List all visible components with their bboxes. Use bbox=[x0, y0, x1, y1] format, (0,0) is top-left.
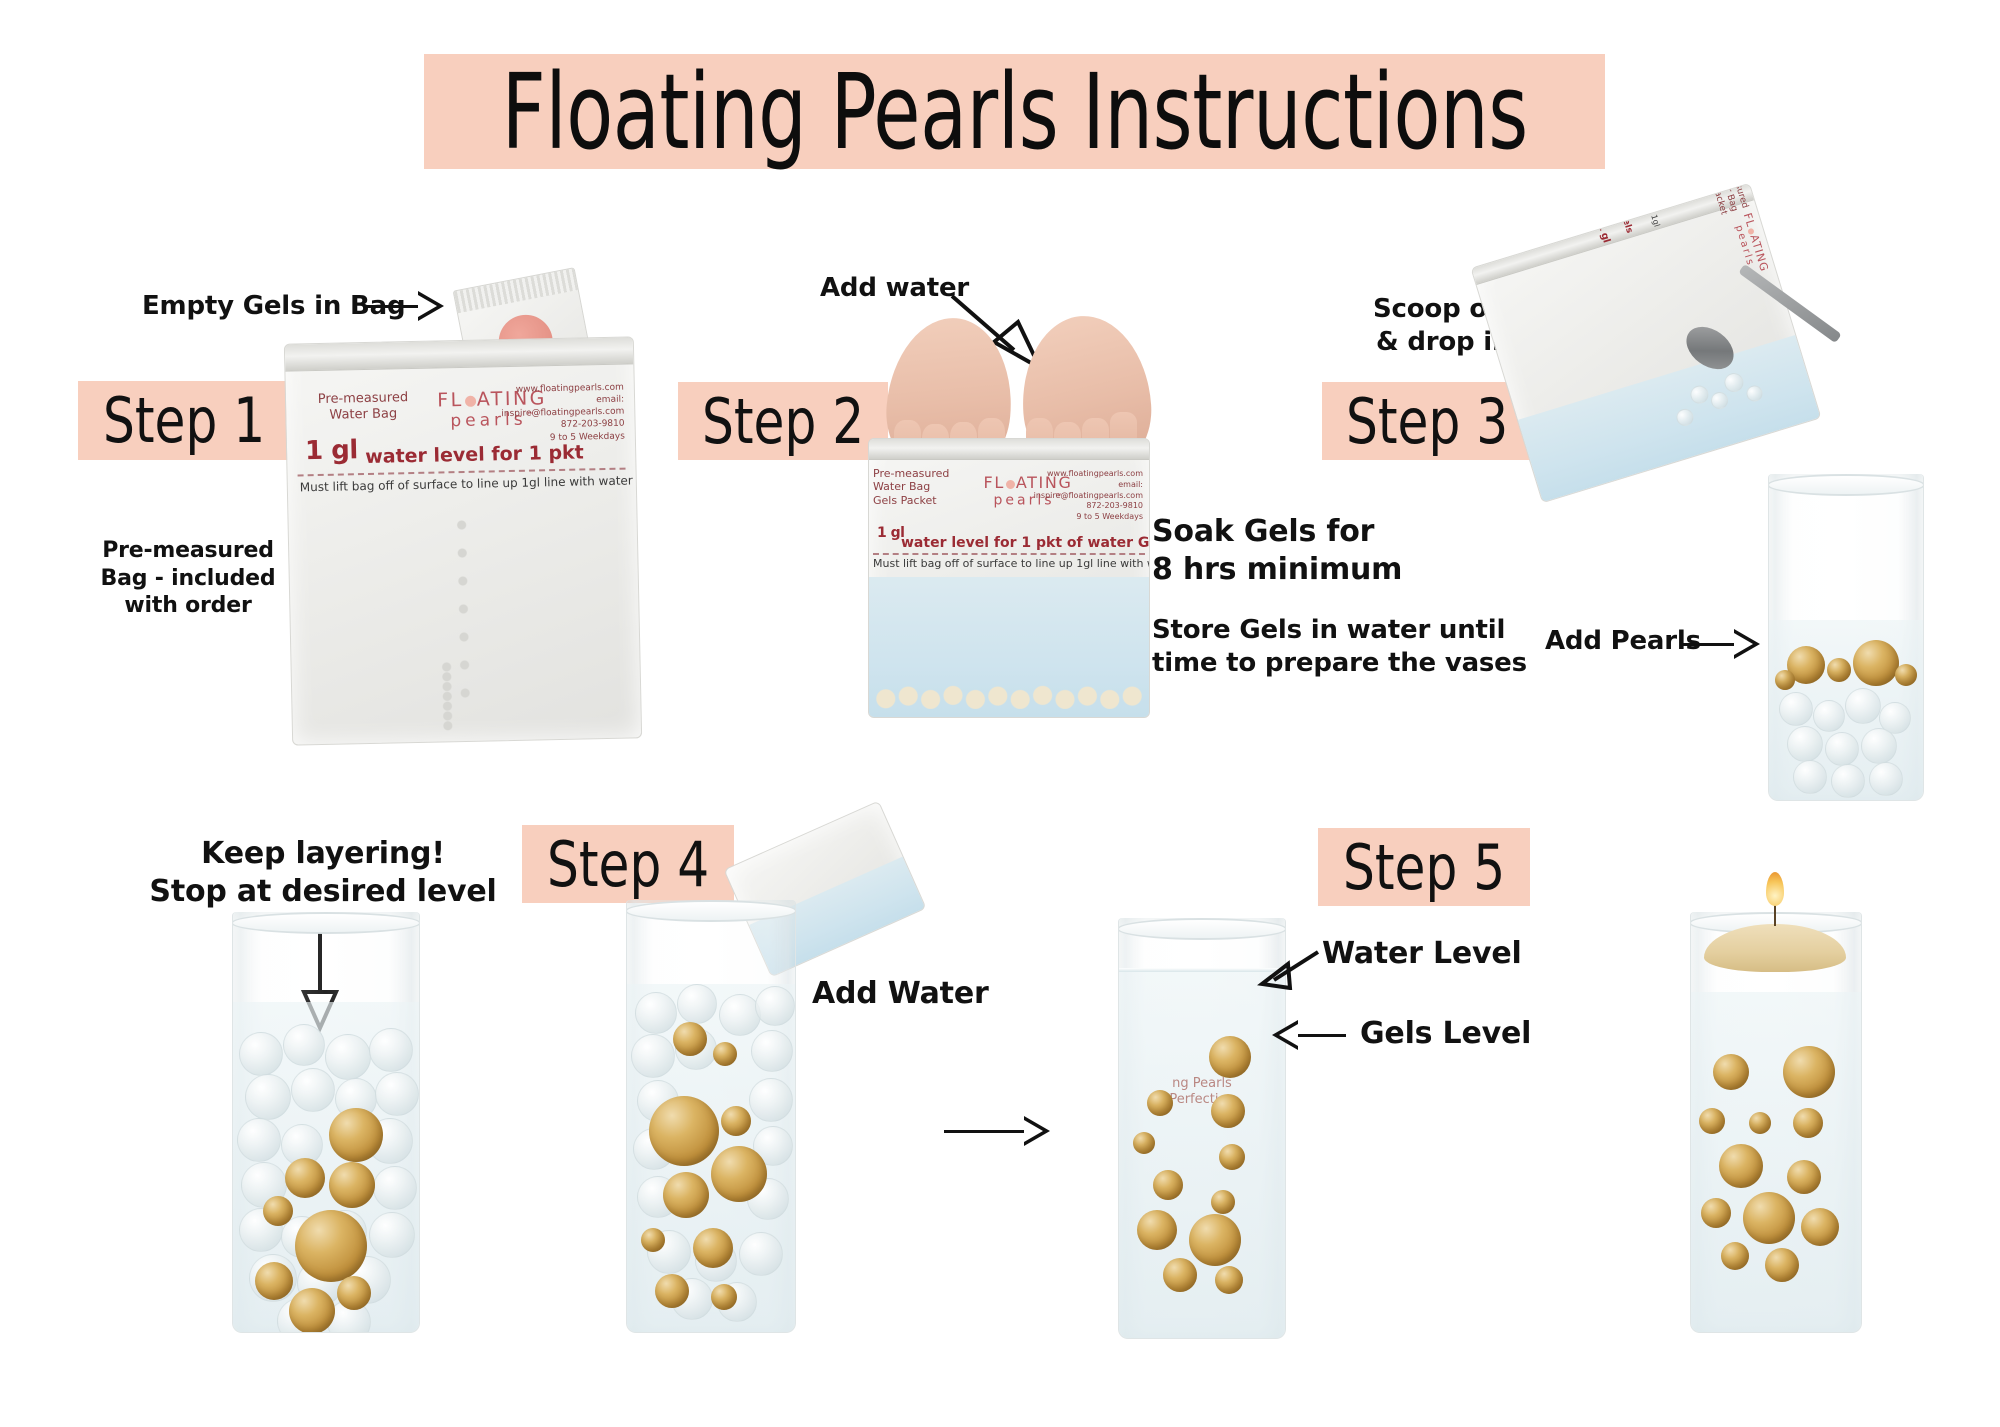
arrow-right-icon bbox=[1024, 1116, 1050, 1146]
pearl bbox=[1699, 1108, 1725, 1134]
pearl bbox=[1211, 1094, 1245, 1128]
vase-rim bbox=[626, 900, 796, 922]
soak-gels-callout: Soak Gels for 8 hrs minimum bbox=[1152, 513, 1402, 589]
pearl bbox=[263, 1196, 293, 1226]
pearl bbox=[1163, 1258, 1197, 1292]
gel-ball bbox=[1861, 728, 1897, 764]
step-2-chip: Step 2 bbox=[678, 382, 888, 460]
infographic-canvas: Floating Pearls Instructions Step 1 Empt… bbox=[0, 0, 2000, 1427]
brand-fl: FL bbox=[437, 389, 464, 412]
pearl bbox=[1209, 1036, 1251, 1078]
transition-arrow-line bbox=[944, 1130, 1032, 1133]
vase-step4 bbox=[626, 900, 796, 1333]
pearl bbox=[655, 1274, 689, 1308]
pearl bbox=[1783, 1046, 1835, 1098]
gel-ball bbox=[1869, 762, 1903, 796]
gel-ball bbox=[373, 1166, 417, 1210]
vase-rim bbox=[1768, 474, 1924, 496]
bag-must-lift-label-2: Must lift bag off of surface to line up … bbox=[873, 557, 1150, 570]
pearl bbox=[1219, 1144, 1245, 1170]
bag-contact-block-2: www.floatingpearls.com email: inspire@fl… bbox=[1017, 469, 1143, 523]
brand-fl-2: FL bbox=[984, 473, 1005, 492]
brand-o-dot-icon bbox=[465, 396, 476, 407]
pearl bbox=[711, 1284, 737, 1310]
bag-zip-seal-3 bbox=[1472, 184, 1754, 285]
gel-ball bbox=[291, 1068, 335, 1112]
pearl bbox=[1793, 1108, 1823, 1138]
pearl bbox=[255, 1262, 293, 1300]
gel-ball bbox=[635, 992, 677, 1034]
page-title: Floating Pearls Instructions bbox=[501, 51, 1527, 173]
step-3-label: Step 3 bbox=[1346, 385, 1508, 458]
bag-contact-block: www.floatingpearls.com email: inspire@fl… bbox=[476, 382, 625, 446]
pearl bbox=[1211, 1190, 1235, 1214]
bag-water-level-label-3: water level for 1 pkt of water Gels bbox=[1573, 183, 1633, 235]
pearl bbox=[673, 1022, 707, 1056]
bag-volume-label: 1 gl bbox=[305, 435, 358, 466]
pearl bbox=[1133, 1132, 1155, 1154]
pearl bbox=[1721, 1242, 1749, 1270]
pearl bbox=[721, 1106, 751, 1136]
gel-ball bbox=[237, 1118, 281, 1162]
vase-step4-layered bbox=[232, 912, 420, 1333]
pearl bbox=[711, 1146, 767, 1202]
water-level-callout: Water Level bbox=[1322, 935, 1522, 973]
add-pearls-callout: Add Pearls bbox=[1545, 625, 1701, 658]
gel-ball bbox=[283, 1024, 325, 1066]
pearl bbox=[1719, 1144, 1763, 1188]
candle-flame-icon bbox=[1766, 872, 1784, 906]
bag-zip-seal bbox=[285, 337, 633, 371]
pearl bbox=[1801, 1208, 1839, 1246]
add-water-callout: Add water bbox=[820, 272, 969, 305]
step-5-label: Step 5 bbox=[1343, 831, 1505, 904]
gel-ball bbox=[1831, 764, 1865, 798]
page-title-band: Floating Pearls Instructions bbox=[424, 54, 1605, 169]
step-1-chip: Step 1 bbox=[78, 381, 291, 460]
pearl bbox=[1713, 1054, 1749, 1090]
bag-zip-seal-2 bbox=[869, 439, 1149, 460]
arrow-left-icon bbox=[1272, 1020, 1298, 1050]
bag-premeasured-label: Pre-measured Water Bag bbox=[304, 390, 423, 424]
pearl bbox=[329, 1162, 375, 1208]
pearl bbox=[1895, 664, 1917, 686]
gel-ball bbox=[1787, 726, 1823, 762]
step-4-label: Step 4 bbox=[547, 828, 709, 901]
add-water-step4-callout: Add Water bbox=[812, 975, 989, 1013]
gel-ball bbox=[325, 1034, 371, 1080]
pearl bbox=[693, 1228, 733, 1268]
pearl bbox=[329, 1108, 383, 1162]
step-3-chip: Step 3 bbox=[1322, 382, 1532, 460]
bag-premeasured-label-2: Pre-measured Water Bag Gels Packet bbox=[873, 467, 969, 507]
pearl bbox=[337, 1276, 371, 1310]
pearl bbox=[1743, 1192, 1795, 1244]
step-4-chip: Step 4 bbox=[522, 825, 734, 903]
pearl bbox=[1775, 670, 1795, 690]
gel-ball bbox=[1793, 760, 1827, 794]
gel-ball bbox=[1779, 692, 1813, 726]
pearl bbox=[1189, 1214, 1241, 1266]
keep-layering-callout: Keep layering! Stop at desired level bbox=[130, 835, 516, 911]
pearl bbox=[713, 1042, 737, 1066]
pearl bbox=[1701, 1198, 1731, 1228]
gel-ball bbox=[369, 1212, 415, 1258]
gel-ball bbox=[631, 1034, 675, 1078]
pearl bbox=[1787, 1160, 1821, 1194]
bag-decorative-dots bbox=[456, 509, 470, 709]
gels-level-arrow-line bbox=[1296, 1034, 1346, 1037]
step-1-label: Step 1 bbox=[103, 384, 265, 457]
arrow-right-icon bbox=[418, 291, 444, 321]
store-gels-callout: Store Gels in water until time to prepar… bbox=[1152, 614, 1527, 680]
gel-ball bbox=[1845, 688, 1881, 724]
water-bag-step1: Pre-measured Water Bag 1 gl FLATING pear… bbox=[284, 336, 642, 745]
water-bag-step2: Pre-measured Water Bag Gels Packet 1 gl … bbox=[868, 438, 1150, 718]
vase-final-with-candle bbox=[1690, 912, 1862, 1333]
pearl bbox=[1853, 640, 1899, 686]
pearl bbox=[1749, 1112, 1771, 1134]
arrow-right-icon bbox=[1734, 629, 1760, 659]
gel-ball bbox=[755, 986, 795, 1026]
gel-ball bbox=[677, 984, 717, 1024]
pearl bbox=[641, 1228, 665, 1252]
pearl bbox=[1153, 1170, 1183, 1200]
pearl bbox=[1827, 658, 1851, 682]
premeasured-bag-callout: Pre-measured Bag - included with order bbox=[98, 537, 278, 620]
bag-decorative-dots-2 bbox=[442, 661, 453, 731]
arrow-left-icon bbox=[1252, 944, 1322, 990]
step-2-label: Step 2 bbox=[702, 385, 864, 458]
pearl bbox=[663, 1172, 709, 1218]
gel-ball bbox=[1813, 700, 1845, 732]
bag-water-level-label-2: water level for 1 pkt of water Gels bbox=[901, 535, 1150, 551]
pearl bbox=[289, 1288, 335, 1333]
pearl bbox=[1765, 1248, 1799, 1282]
add-pearls-arrow-line bbox=[1682, 643, 1740, 646]
pearl bbox=[1137, 1210, 1177, 1250]
brand-o-dot-icon-2 bbox=[1006, 480, 1015, 489]
pearl bbox=[295, 1210, 367, 1282]
gel-ball bbox=[245, 1074, 291, 1120]
bag-gels-layer bbox=[869, 675, 1149, 709]
pearl bbox=[285, 1158, 325, 1198]
gel-ball bbox=[1825, 732, 1859, 766]
vase-step3 bbox=[1768, 474, 1924, 801]
bag-must-lift-label: Must lift bag off of surface to line up … bbox=[300, 473, 642, 495]
gel-ball bbox=[739, 1232, 783, 1276]
gel-ball bbox=[375, 1072, 419, 1116]
gel-ball bbox=[749, 1078, 793, 1122]
pearl bbox=[1147, 1090, 1173, 1116]
vase-rim bbox=[232, 912, 420, 934]
bag-dash-line-2 bbox=[873, 553, 1145, 555]
gels-level-callout: Gels Level bbox=[1360, 1015, 1531, 1053]
pearl bbox=[649, 1096, 719, 1166]
step-5-chip: Step 5 bbox=[1318, 828, 1530, 906]
bag-water-level-label: water level for 1 pkt bbox=[365, 441, 584, 468]
gel-ball bbox=[751, 1030, 793, 1072]
gel-ball bbox=[239, 1032, 283, 1076]
pearl bbox=[1215, 1266, 1243, 1294]
vase-rim bbox=[1118, 918, 1286, 940]
gel-ball bbox=[369, 1028, 413, 1072]
packet-seal bbox=[454, 268, 578, 312]
